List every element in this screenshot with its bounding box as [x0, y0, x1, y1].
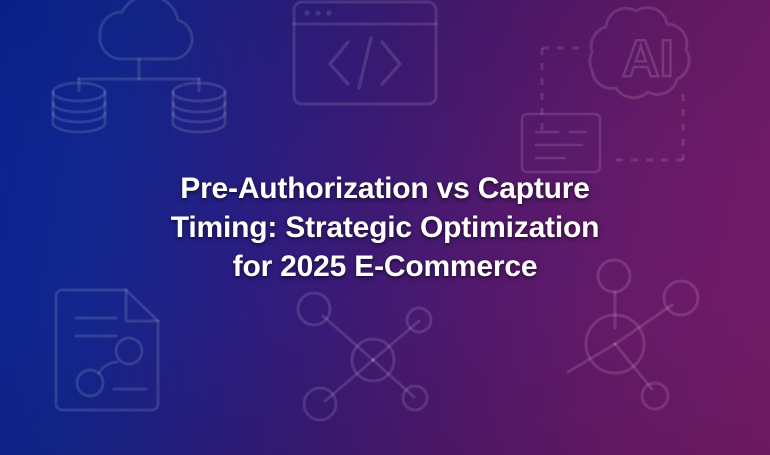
title-container: Pre-Authorization vs Capture Timing: Str… — [0, 0, 770, 455]
hero-banner: AI — [0, 0, 770, 455]
page-title: Pre-Authorization vs Capture Timing: Str… — [105, 169, 665, 286]
